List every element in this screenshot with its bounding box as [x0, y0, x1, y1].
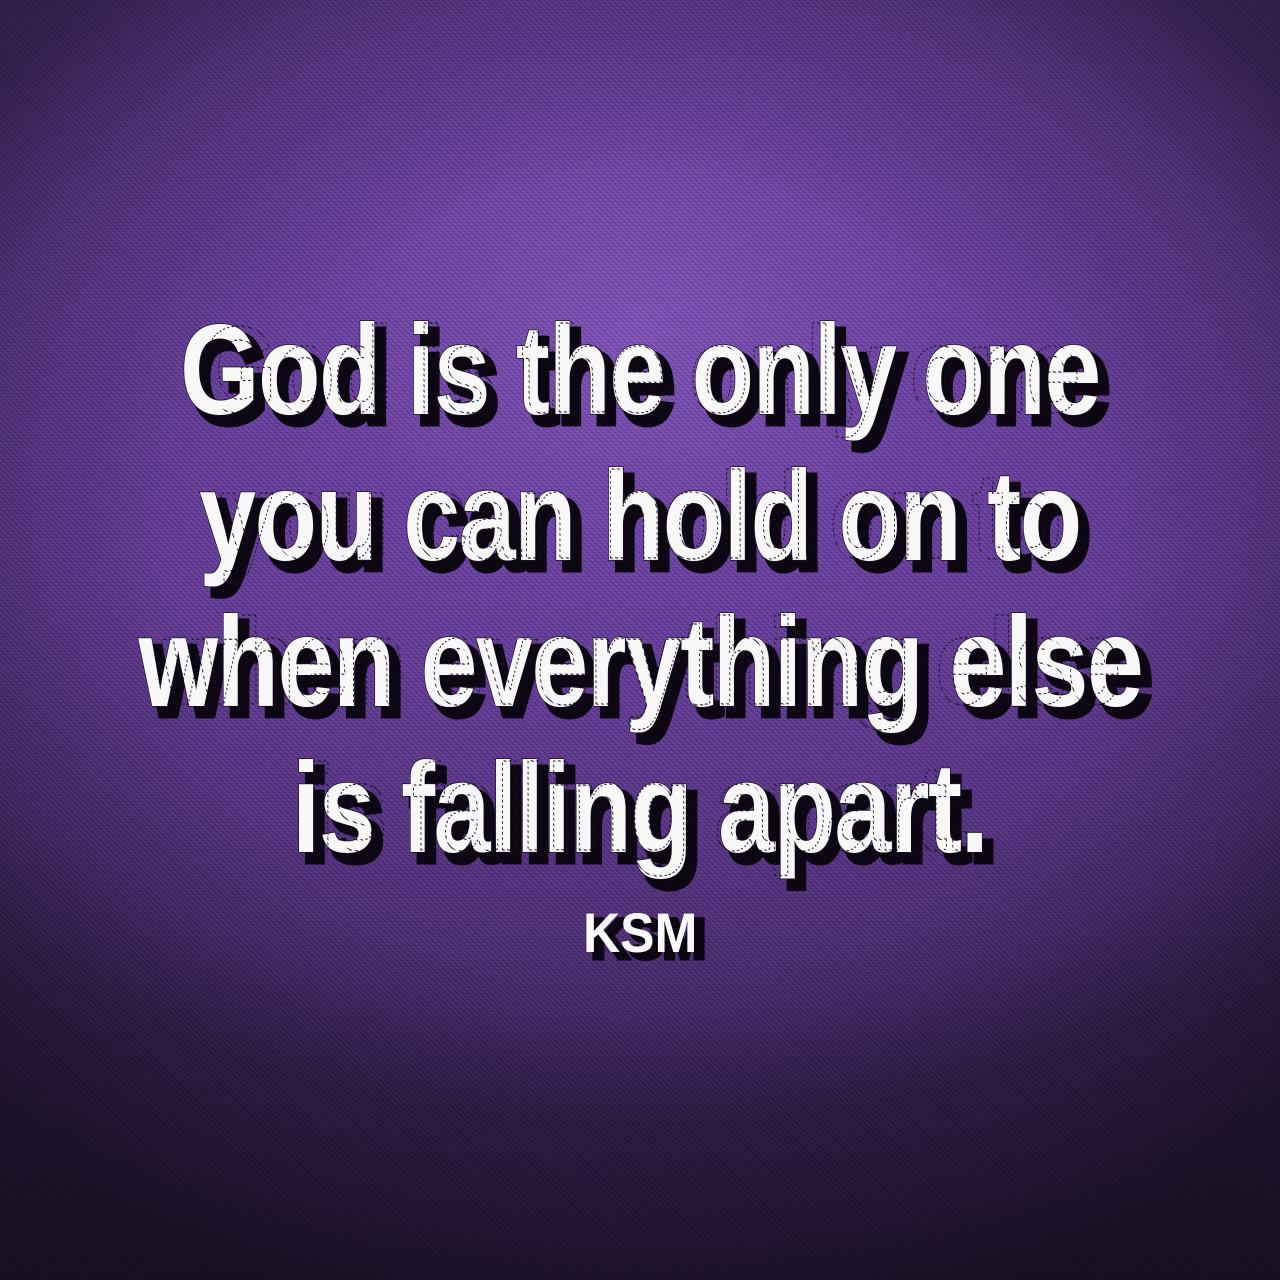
- quote-line-4-text: is falling apart.: [292, 737, 987, 880]
- attribution-block: KSM KSM: [0, 900, 1280, 965]
- background-weave-texture: [0, 0, 1280, 1280]
- quote-line-4-shadow: is falling apart.: [301, 745, 996, 891]
- background-slub-texture: [0, 0, 1280, 1280]
- quote-line-3-shadow: when everything else: [147, 599, 1151, 745]
- image-grain-overlay: [0, 0, 1280, 1280]
- background-twill-texture: [0, 0, 1280, 1280]
- stitch-outline: you can hold on to: [219, 447, 1061, 586]
- background-vignette: [0, 0, 1280, 1280]
- quote-line-1-text: God is the only one: [180, 299, 1100, 442]
- quote-line-2-shadow: you can hold on to: [208, 453, 1089, 599]
- stitch-outline: God is the only one: [201, 301, 1079, 440]
- quote-line-3-text: when everything else: [138, 591, 1142, 734]
- quote-line-1-shadow: God is the only one: [189, 307, 1109, 453]
- quote-line-3: when everything else when everything els…: [0, 590, 1280, 736]
- background-light-gradient: [0, 0, 1280, 1280]
- attribution-shadow: KSM: [591, 906, 705, 971]
- stitch-outline: is falling apart.: [308, 739, 972, 878]
- quote-line-1: God is the only one God is the only one …: [0, 298, 1280, 444]
- quote-text-block: God is the only one God is the only one …: [0, 298, 1280, 882]
- quote-line-2-text: you can hold on to: [199, 445, 1080, 588]
- quote-line-4: is falling apart. is falling apart. is f…: [0, 736, 1280, 882]
- stitch-outline: when everything else: [161, 593, 1120, 732]
- quote-poster: God is the only one God is the only one …: [0, 0, 1280, 1280]
- quote-line-2: you can hold on to you can hold on to yo…: [0, 444, 1280, 590]
- attribution-text: KSM: [583, 901, 697, 964]
